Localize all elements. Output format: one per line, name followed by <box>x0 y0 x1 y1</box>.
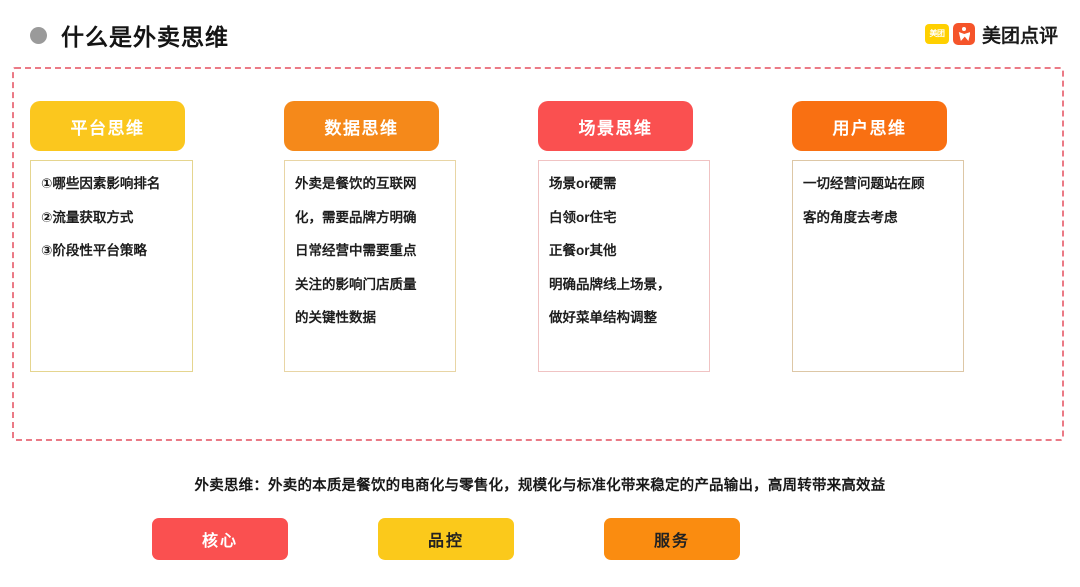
column-card-scene: 场景or硬需 白领or住宅 正餐or其他 明确品牌线上场景， 做好菜单结构调整 <box>538 160 710 372</box>
list-item: 客的角度去考虑 <box>803 211 953 225</box>
meituan-badge-icon: 美团 <box>925 24 949 44</box>
column-header-data[interactable]: 数据思维 <box>284 101 439 151</box>
filled-circle-icon <box>30 27 47 44</box>
title-group: 什么是外卖思维 <box>30 18 229 52</box>
column-data: 数据思维 外卖是餐饮的互联网 化，需要品牌方明确 日常经营中需要重点 关注的影响… <box>284 101 538 441</box>
list-item: ③阶段性平台策略 <box>41 244 182 258</box>
list-item: 一切经营问题站在顾 <box>803 177 953 191</box>
tag-service[interactable]: 服务 <box>604 518 740 560</box>
list-item: ②流量获取方式 <box>41 211 182 225</box>
brand-name: 美团点评 <box>982 21 1058 48</box>
tag-quality[interactable]: 品控 <box>378 518 514 560</box>
page-header: 什么是外卖思维 美团 美团点评 <box>0 0 1080 66</box>
list-item: 外卖是餐饮的互联网 <box>295 177 445 191</box>
list-item: 场景or硬需 <box>549 177 699 191</box>
list-item: ①哪些因素影响排名 <box>41 177 182 191</box>
column-header-user[interactable]: 用户思维 <box>792 101 947 151</box>
list-item: 的关键性数据 <box>295 311 445 325</box>
person-icon <box>953 23 975 45</box>
list-item: 化，需要品牌方明确 <box>295 211 445 225</box>
column-card-data: 外卖是餐饮的互联网 化，需要品牌方明确 日常经营中需要重点 关注的影响门店质量 … <box>284 160 456 372</box>
column-header-scene[interactable]: 场景思维 <box>538 101 693 151</box>
column-card-user: 一切经营问题站在顾 客的角度去考虑 <box>792 160 964 372</box>
column-scene: 场景思维 场景or硬需 白领or住宅 正餐or其他 明确品牌线上场景， 做好菜单… <box>538 101 792 441</box>
thinking-columns: 平台思维 ①哪些因素影响排名 ②流量获取方式 ③阶段性平台策略 数据思维 外卖是… <box>12 67 1064 441</box>
column-header-platform[interactable]: 平台思维 <box>30 101 185 151</box>
brand-logo: 美团 美团点评 <box>925 22 1058 46</box>
list-item: 白领or住宅 <box>549 211 699 225</box>
list-item: 明确品牌线上场景， <box>549 278 699 292</box>
column-user: 用户思维 一切经营问题站在顾 客的角度去考虑 <box>792 101 1046 441</box>
list-item: 正餐or其他 <box>549 244 699 258</box>
column-card-platform: ①哪些因素影响排名 ②流量获取方式 ③阶段性平台策略 <box>30 160 193 372</box>
list-item: 日常经营中需要重点 <box>295 244 445 258</box>
bottom-tags: 核心 品控 服务 <box>152 518 772 560</box>
list-item: 做好菜单结构调整 <box>549 311 699 325</box>
tag-core[interactable]: 核心 <box>152 518 288 560</box>
list-item: 关注的影响门店质量 <box>295 278 445 292</box>
column-platform: 平台思维 ①哪些因素影响排名 ②流量获取方式 ③阶段性平台策略 <box>30 101 284 441</box>
page-title: 什么是外卖思维 <box>61 18 229 52</box>
summary-text: 外卖思维：外卖的本质是餐饮的电商化与零售化，规模化与标准化带来稳定的产品输出，高… <box>0 474 1080 495</box>
